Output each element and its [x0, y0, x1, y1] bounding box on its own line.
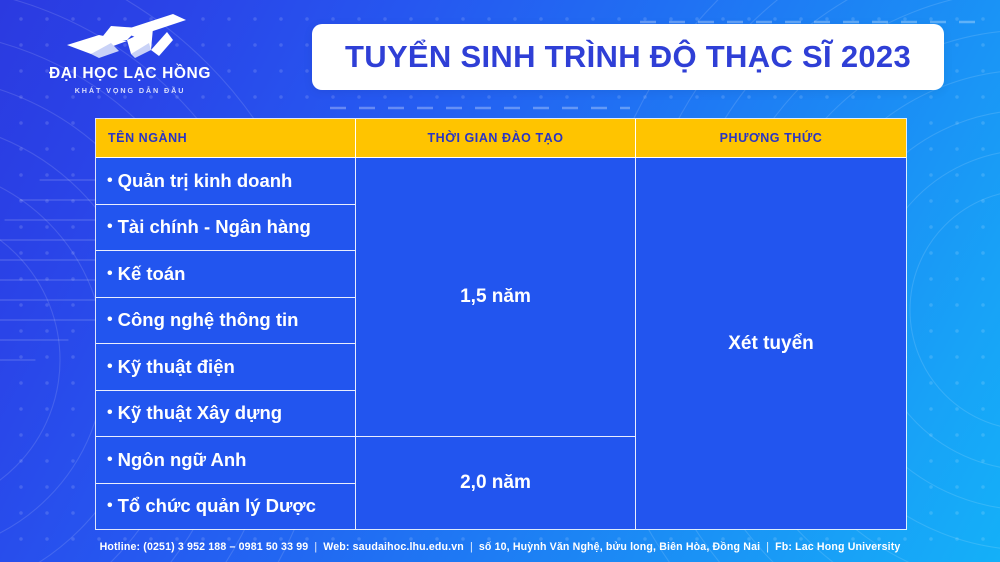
poster-canvas: ĐẠI HỌC LẠC HỒNG KHÁT VỌNG DẪN ĐẦU TUYỂN…: [0, 0, 1000, 562]
footer-separator-2: |: [470, 541, 473, 553]
column-header-name: TÊN NGÀNH: [96, 119, 356, 157]
university-logo: ĐẠI HỌC LẠC HỒNG KHÁT VỌNG DẪN ĐẦU: [22, 10, 238, 95]
footer-separator-3: |: [766, 541, 769, 553]
title-banner: TUYỂN SINH TRÌNH ĐỘ THẠC SĨ 2023: [312, 24, 944, 90]
bullet-icon: •: [107, 219, 113, 235]
bullet-icon: •: [107, 312, 113, 328]
program-name-label: Kỹ thuật Xây dựng: [118, 402, 283, 424]
bullet-icon: •: [107, 173, 113, 189]
program-name-label: Tổ chức quản lý Dược: [118, 495, 316, 517]
logo-university-name: ĐẠI HỌC LẠC HỒNG: [22, 65, 238, 83]
program-row: •Kế toán: [96, 251, 355, 298]
origami-bird-plane-icon: [55, 10, 205, 60]
program-row: •Quản trị kinh doanh: [96, 158, 355, 205]
footer-address: số 10, Huỳnh Văn Nghệ, bửu long, Biên Hò…: [479, 541, 760, 553]
bullet-icon: •: [107, 405, 113, 421]
page-title: TUYỂN SINH TRÌNH ĐỘ THẠC SĨ 2023: [345, 39, 911, 75]
program-row: •Tài chính - Ngân hàng: [96, 205, 355, 252]
program-name-label: Công nghệ thông tin: [118, 309, 299, 331]
program-name-label: Ngôn ngữ Anh: [118, 449, 247, 471]
program-name-label: Tài chính - Ngân hàng: [118, 216, 311, 238]
bullet-icon: •: [107, 498, 113, 514]
program-row: •Công nghệ thông tin: [96, 298, 355, 345]
program-row: •Kỹ thuật Xây dựng: [96, 391, 355, 438]
column-program-names: •Quản trị kinh doanh•Tài chính - Ngân hà…: [96, 158, 356, 529]
logo-tagline: KHÁT VỌNG DẪN ĐẦU: [22, 86, 238, 95]
program-name-label: Quản trị kinh doanh: [118, 170, 293, 192]
dashed-line-under-title-decoration: [330, 100, 630, 116]
programs-table: TÊN NGÀNH THỜI GIAN ĐÀO TẠO PHƯƠNG THỨC …: [95, 118, 907, 530]
footer-website[interactable]: Web: saudaihoc.lhu.edu.vn: [323, 541, 464, 553]
table-header-row: TÊN NGÀNH THỜI GIAN ĐÀO TẠO PHƯƠNG THỨC: [96, 119, 906, 157]
bullet-icon: •: [107, 266, 113, 282]
program-row: •Kỹ thuật điện: [96, 344, 355, 391]
column-header-duration: THỜI GIAN ĐÀO TẠO: [356, 119, 636, 157]
column-method-value: Xét tuyển: [636, 158, 906, 529]
bullet-icon: •: [107, 452, 113, 468]
bullet-icon: •: [107, 359, 113, 375]
program-name-label: Kỹ thuật điện: [118, 356, 235, 378]
duration-cell: 1,5 năm: [356, 158, 635, 437]
table-body: •Quản trị kinh doanh•Tài chính - Ngân hà…: [96, 157, 906, 529]
program-row: •Ngôn ngữ Anh: [96, 437, 355, 484]
footer-facebook[interactable]: Fb: Lac Hong University: [775, 541, 900, 553]
program-row: •Tổ chức quản lý Dược: [96, 484, 355, 530]
footer-separator-1: |: [314, 541, 317, 553]
program-name-label: Kế toán: [118, 263, 186, 285]
column-durations: 1,5 năm2,0 năm: [356, 158, 636, 529]
column-header-method: PHƯƠNG THỨC: [636, 119, 906, 157]
footer-hotline: Hotline: (0251) 3 952 188 – 0981 50 33 9…: [100, 541, 309, 553]
footer-contact-bar: Hotline: (0251) 3 952 188 – 0981 50 33 9…: [0, 532, 1000, 562]
duration-cell: 2,0 năm: [356, 437, 635, 530]
